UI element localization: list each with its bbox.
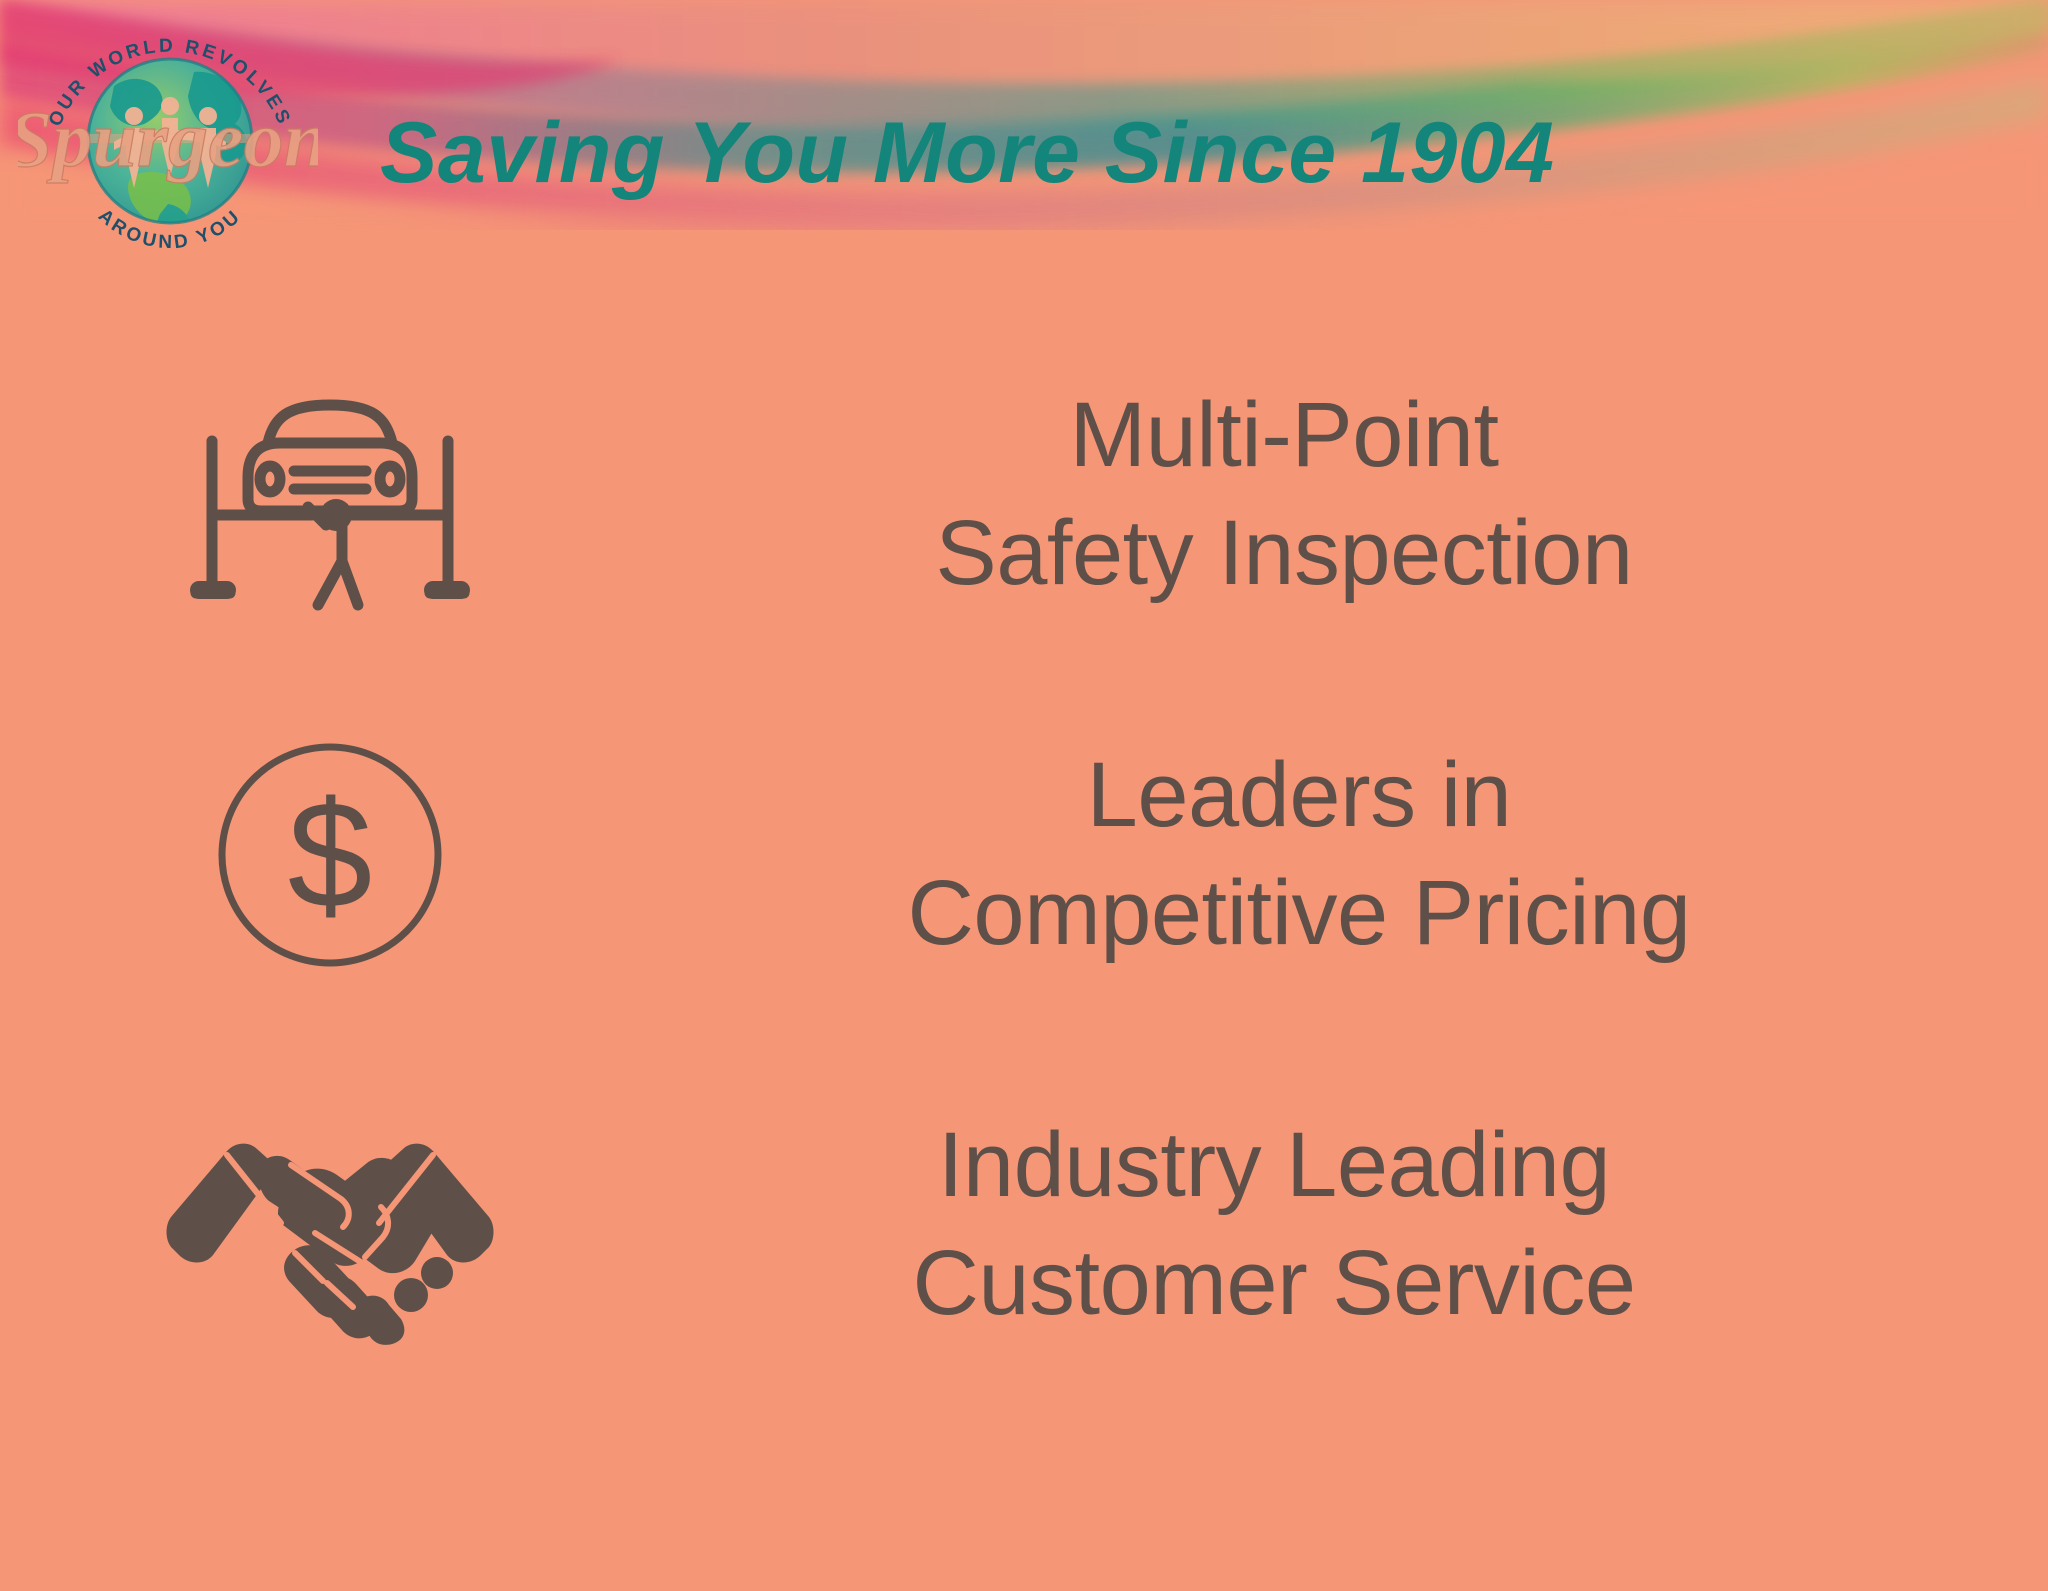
car-lift-icon	[190, 365, 470, 625]
feature-line-1: Multi-Point	[660, 377, 1908, 495]
feature-icon-slot	[0, 365, 660, 625]
feature-text: Leaders in Competitive Pricing	[660, 737, 2048, 973]
feature-row: Multi-Point Safety Inspection	[0, 340, 2048, 650]
feature-line-2: Customer Service	[660, 1225, 1888, 1343]
svg-text:$: $	[288, 770, 373, 940]
feature-line-2: Competitive Pricing	[660, 855, 1938, 973]
feature-text: Industry Leading Customer Service	[660, 1107, 2048, 1343]
feature-icon-slot: $	[0, 735, 660, 975]
promo-slide: OUR WORLD REVOLVES AROUND YOU Spurgeon S…	[0, 0, 2048, 1591]
feature-row: $ Leaders in Competitive Pricing	[0, 700, 2048, 1010]
handshake-icon	[165, 1105, 495, 1345]
feature-text: Multi-Point Safety Inspection	[660, 377, 2048, 613]
dollar-circle-icon: $	[210, 735, 450, 975]
feature-icon-slot	[0, 1105, 660, 1345]
feature-line-2: Safety Inspection	[660, 495, 1908, 613]
feature-line-1: Industry Leading	[660, 1107, 1888, 1225]
page-title: Saving You More Since 1904	[380, 98, 2030, 208]
company-logo[interactable]: OUR WORLD REVOLVES AROUND YOU Spurgeon	[18, 8, 318, 278]
feature-line-1: Leaders in	[660, 737, 1938, 855]
logo-wordmark: Spurgeon	[18, 96, 318, 184]
feature-row: Industry Leading Customer Service	[0, 1060, 2048, 1390]
